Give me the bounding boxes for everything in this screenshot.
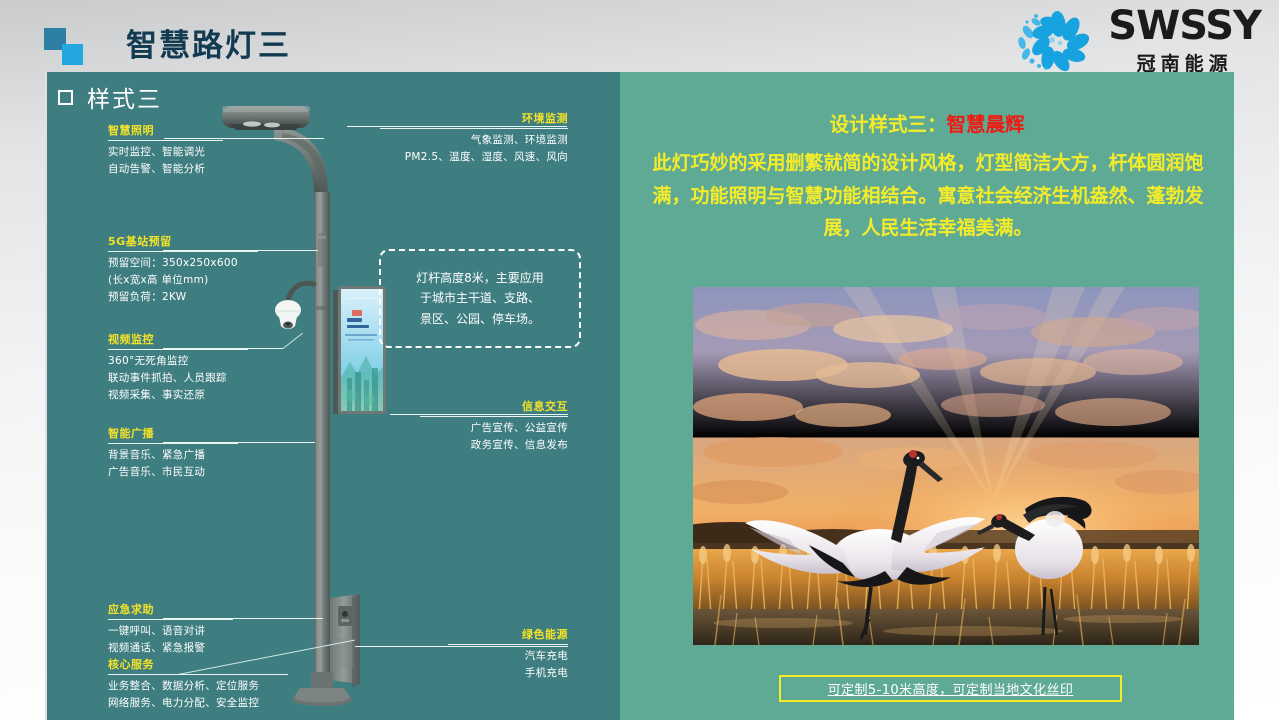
callout-body: 360°无死角监控 联动事件抓拍、人员跟踪 视频采集、事实还原 (108, 353, 248, 404)
callout-line: 网络服务、电力分配、安全监控 (108, 695, 288, 712)
callout-body: 预留空间：350x250x600 (长x宽x高 单位mm) 预留负荷：2KW (108, 255, 258, 306)
callout-line: 实时监控、智能调光 (108, 144, 223, 161)
callout-underline (420, 416, 568, 417)
callout-underline (448, 644, 568, 645)
callout-line: 预留空间：350x250x600 (108, 255, 258, 272)
callout-title: 绿色能源 (448, 626, 568, 644)
logo-wordmark: SWSSY 冠南能源 (1108, 6, 1261, 76)
callout-line: 政务宣传、信息发布 (420, 437, 568, 454)
callout-title: 应急求助 (108, 601, 233, 619)
petal-logo-icon (1012, 10, 1098, 72)
callout-title: 智慧照明 (108, 122, 223, 140)
note-line: 灯杆高度8米，主要应用 (393, 268, 567, 289)
callout-line: 业务整合、数据分析、定位服务 (108, 678, 288, 695)
callout-green-energy: 绿色能源 汽车充电 手机充电 (448, 626, 568, 682)
logo-brand-text: SWSSY (1108, 6, 1261, 46)
callout-body: 业务整合、数据分析、定位服务 网络服务、电力分配、安全监控 (108, 678, 288, 712)
page-title: 智慧路灯三 (126, 20, 291, 65)
customization-caption-text: 可定制5-10米高度，可定制当地文化丝印 (828, 679, 1074, 698)
callout-underline (108, 251, 258, 252)
application-note-box: 灯杆高度8米，主要应用 于城市主干道、支路、 景区、公园、停车场。 (379, 249, 581, 348)
callout-line: PM2.5、温度、湿度、风速、风向 (380, 149, 568, 166)
callout-line: 气象监测、环境监测 (380, 132, 568, 149)
callout-smart-lighting: 智慧照明 实时监控、智能调光 自动告警、智能分析 (108, 122, 223, 178)
callout-line: 广告音乐、市民互动 (108, 464, 238, 481)
callout-title: 环境监测 (380, 110, 568, 128)
callout-line: 背景音乐、紧急广播 (108, 447, 238, 464)
callout-body: 一键呼叫、语音对讲 视频通话、紧急报警 (108, 623, 233, 657)
callout-line: 视频采集、事实还原 (108, 387, 248, 404)
note-line: 于城市主干道、支路、 (393, 288, 567, 309)
callout-smart-broadcast: 智能广播 背景音乐、紧急广播 广告音乐、市民互动 (108, 425, 238, 481)
callout-5g-base-station: 5G基站预留 预留空间：350x250x600 (长x宽x高 单位mm) 预留负… (108, 233, 258, 306)
callout-title: 智能广播 (108, 425, 238, 443)
note-line: 景区、公园、停车场。 (393, 309, 567, 330)
callout-underline (108, 140, 223, 141)
callout-body: 背景音乐、紧急广播 广告音乐、市民互动 (108, 447, 238, 481)
callout-underline (108, 443, 238, 444)
callout-body: 广告宣传、公益宣传 政务宣传、信息发布 (420, 420, 568, 454)
company-logo: SWSSY 冠南能源 (1012, 6, 1261, 76)
design-style-heading: 设计样式三：智慧晨辉 (620, 108, 1234, 137)
square-bullet-icon (58, 90, 73, 105)
callout-line: 手机充电 (448, 665, 568, 682)
design-style-heading-name: 智慧晨辉 (947, 113, 1025, 136)
callout-underline (108, 349, 248, 350)
callout-line: 汽车充电 (448, 648, 568, 665)
callout-line: 一键呼叫、语音对讲 (108, 623, 233, 640)
crane-sunset-photo (693, 287, 1199, 645)
callout-video-surveillance: 视频监控 360°无死角监控 联动事件抓拍、人员跟踪 视频采集、事实还原 (108, 331, 248, 404)
callout-environment-monitoring: 环境监测 气象监测、环境监测 PM2.5、温度、湿度、风速、风向 (380, 110, 568, 166)
callout-body: 气象监测、环境监测 PM2.5、温度、湿度、风速、风向 (380, 132, 568, 166)
callout-title: 视频监控 (108, 331, 248, 349)
leader-line-notebox (346, 298, 380, 299)
section-heading-label: 样式三 (87, 80, 162, 114)
design-description: 此灯巧妙的采用删繁就简的设计风格，灯型简洁大方，杆体圆润饱满，功能照明与智慧功能… (640, 147, 1216, 245)
callout-line: 视频通话、紧急报警 (108, 640, 233, 657)
callout-emergency-help: 应急求助 一键呼叫、语音对讲 视频通话、紧急报警 (108, 601, 233, 657)
callout-information-interaction: 信息交互 广告宣传、公益宣传 政务宣传、信息发布 (420, 398, 568, 454)
callout-line: 联动事件抓拍、人员跟踪 (108, 370, 248, 387)
customization-caption-box: 可定制5-10米高度，可定制当地文化丝印 (779, 675, 1122, 702)
callout-body: 实时监控、智能调光 自动告警、智能分析 (108, 144, 223, 178)
decorative-square-light (62, 44, 83, 65)
callout-body: 汽车充电 手机充电 (448, 648, 568, 682)
callout-title: 信息交互 (420, 398, 568, 416)
slide-header: 智慧路灯三 (0, 0, 1279, 72)
callout-underline (380, 128, 568, 129)
callout-title: 5G基站预留 (108, 233, 258, 251)
callout-line: 预留负荷：2KW (108, 289, 258, 306)
callout-line: 360°无死角监控 (108, 353, 248, 370)
callout-line: 自动告警、智能分析 (108, 161, 223, 178)
callout-title: 核心服务 (108, 656, 288, 674)
callout-line: 广告宣传、公益宣传 (420, 420, 568, 437)
section-heading: 样式三 (58, 80, 162, 114)
callout-core-services: 核心服务 业务整合、数据分析、定位服务 网络服务、电力分配、安全监控 (108, 656, 288, 712)
callout-underline (108, 674, 288, 675)
callout-underline (108, 619, 233, 620)
callout-line: (长x宽x高 单位mm) (108, 272, 258, 289)
slide-root: 智慧路灯三 (0, 0, 1279, 720)
design-style-heading-prefix: 设计样式三： (829, 113, 946, 136)
